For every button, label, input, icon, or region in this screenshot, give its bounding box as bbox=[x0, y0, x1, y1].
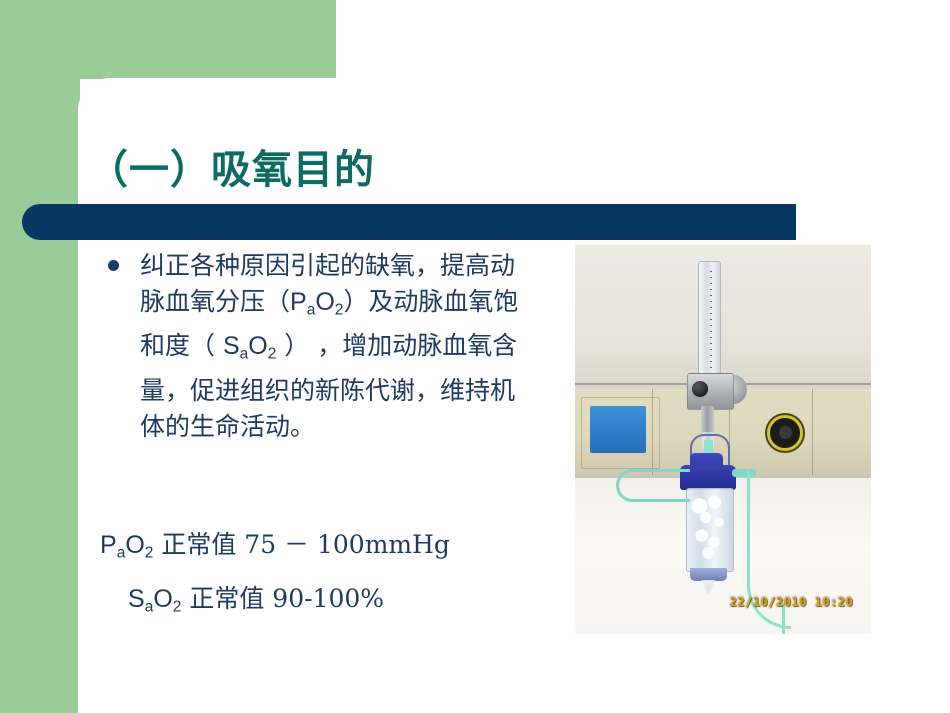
sao2-line-s: S bbox=[128, 585, 145, 613]
sao2-s: S bbox=[223, 332, 240, 360]
page-title: （一）吸氧目的 bbox=[88, 146, 788, 194]
photo-port-inner bbox=[779, 426, 792, 439]
pao2-inline-formula: PaO2 bbox=[290, 288, 343, 316]
pao2-formula: PaO2 bbox=[100, 531, 153, 559]
photo-wall-gas-port bbox=[770, 418, 800, 448]
photo-humidifier-base bbox=[690, 568, 727, 582]
sao2-inline-formula: SaO2 bbox=[223, 332, 276, 360]
photo-humidifier-bottle bbox=[686, 488, 734, 572]
sao2-formula: SaO2 bbox=[128, 585, 181, 613]
pao2-line-p: P bbox=[100, 531, 117, 559]
sao2-line-o: O bbox=[153, 585, 172, 613]
photo-humidifier-bubbles bbox=[691, 494, 730, 561]
slide-canvas: （一）吸氧目的 纠正各种原因引起的缺氧，提高动脉血氧分压（PaO2）及动脉血氧饱… bbox=[0, 0, 950, 713]
pao2-normal-range-line: PaO2 正常值 75 － 100mmHg bbox=[100, 528, 560, 570]
bullet-dot-icon bbox=[108, 260, 119, 271]
pao2-p: P bbox=[290, 288, 307, 316]
photo-blue-label-card bbox=[590, 406, 646, 453]
photo-upper-wall bbox=[575, 245, 871, 385]
sao2-a: a bbox=[240, 346, 249, 363]
pao2-range-text: 正常值 75 － 100mmHg bbox=[153, 530, 450, 559]
photo-flowmeter-stem bbox=[701, 406, 714, 433]
photo-flowmeter-scale bbox=[710, 271, 712, 369]
sao2-range-text: 正常值 90-100% bbox=[181, 584, 384, 613]
green-top-block bbox=[0, 0, 336, 79]
body-text-block: 纠正各种原因引起的缺氧，提高动脉血氧分压（PaO2）及动脉血氧饱和度（ SaO2… bbox=[100, 248, 520, 445]
photo-date-stamp: 22/10/2010 10:20 bbox=[730, 595, 854, 609]
navy-title-rule bbox=[22, 204, 796, 240]
sao2-o: O bbox=[248, 332, 267, 360]
list-item: 纠正各种原因引起的缺氧，提高动脉血氧分压（PaO2）及动脉血氧饱和度（ SaO2… bbox=[100, 248, 520, 445]
sao2-normal-range-line: SaO2 正常值 90-100% bbox=[128, 582, 588, 624]
photo-flowmeter-knob bbox=[692, 381, 708, 397]
pao2-o: O bbox=[315, 288, 334, 316]
pao2-line-o: O bbox=[125, 531, 144, 559]
green-left-column bbox=[0, 0, 80, 713]
rail-panel-divider bbox=[812, 389, 813, 475]
oxygen-flowmeter-photo: 22/10/2010 10:20 bbox=[575, 245, 871, 634]
photo-oxygen-tube-loop bbox=[616, 469, 690, 502]
photo-flowmeter-tube bbox=[698, 261, 721, 380]
bullet-item-text: 纠正各种原因引起的缺氧，提高动脉血氧分压（PaO2）及动脉血氧饱和度（ SaO2… bbox=[140, 248, 520, 445]
